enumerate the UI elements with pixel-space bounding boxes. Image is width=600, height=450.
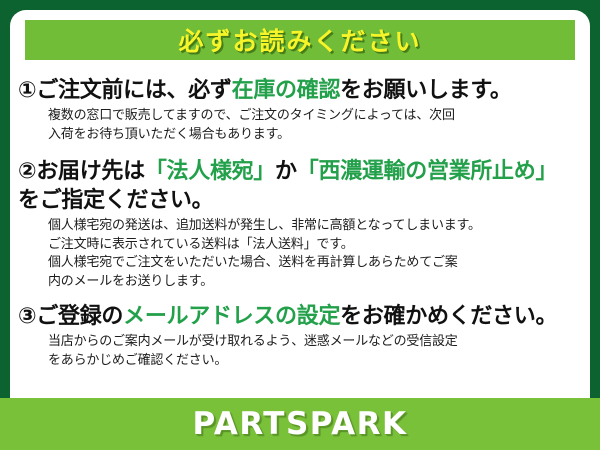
notice-item-2-heading: ②お届け先は「法人様宛」か「西濃運輸の営業所止め」 — [18, 157, 582, 186]
notice-banner: 必ずお読みください ①ご注文前には、必ず在庫の確認をお願いします。 複数の窓口で… — [0, 0, 600, 450]
footer-band: PARTSPARK — [0, 398, 600, 450]
notice-item-2-subline-4: 内のメールをお送りします。 — [48, 273, 582, 292]
notice-item-1-head-post: をお願いします。 — [340, 78, 511, 103]
notice-panel: 必ずお読みください ①ご注文前には、必ず在庫の確認をお願いします。 複数の窓口で… — [10, 10, 590, 450]
notice-item-2-head-accent: 「法人様宛」 — [145, 159, 275, 184]
notice-item-2-head-pre: お届け先は — [36, 159, 145, 184]
notice-item-3-head-post: をお確かめください。 — [340, 304, 557, 329]
notice-item-2-subline-2: ご注文時に表示されている送料は「法人送料」です。 — [48, 236, 582, 255]
notice-item-2: ②お届け先は「法人様宛」か「西濃運輸の営業所止め」 をご指定ください。 個人様宅… — [18, 157, 582, 292]
notice-item-3-marker: ③ — [18, 304, 36, 329]
notice-content: ①ご注文前には、必ず在庫の確認をお願いします。 複数の窓口で販売してますので、ご… — [10, 70, 590, 400]
notice-item-1-head-accent: 在庫の確認 — [232, 78, 341, 103]
notice-item-1: ①ご注文前には、必ず在庫の確認をお願いします。 複数の窓口で販売してますので、ご… — [18, 76, 582, 145]
notice-item-1-marker: ① — [18, 78, 36, 103]
notice-item-3-subtext: 当店からのご案内メールが受け取れるよう、迷惑メールなどの受信設定 をあらかじめご… — [48, 333, 582, 371]
notice-item-2-subline-1: 個人様宅宛の発送は、追加送料が発生し、非常に高額となってしまいます。 — [48, 217, 582, 236]
notice-item-3-subline-2: をあらかじめご確認ください。 — [48, 352, 582, 371]
notice-item-3-head-pre: ご登録の — [36, 304, 123, 329]
notice-item-1-subline-1: 複数の窓口で販売してますので、ご注文のタイミングによっては、次回 — [48, 107, 582, 126]
notice-item-2-head-accent2: 「西濃運輸の営業所止め」 — [297, 159, 557, 184]
notice-item-2-subline-3: 個人様宅宛でご注文をいただいた場合、送料を再計算しあらためてご案 — [48, 254, 582, 273]
notice-item-1-subtext: 複数の窓口で販売してますので、ご注文のタイミングによっては、次回 入荷をお待ち頂… — [48, 107, 582, 145]
notice-item-2-heading-line2: をご指定ください。 — [18, 186, 582, 215]
notice-item-1-heading: ①ご注文前には、必ず在庫の確認をお願いします。 — [18, 76, 582, 105]
header-title: 必ずお読みください — [178, 22, 421, 58]
notice-item-2-head-mid: か — [275, 159, 297, 184]
notice-item-3-subline-1: 当店からのご案内メールが受け取れるよう、迷惑メールなどの受信設定 — [48, 333, 582, 352]
header-band: 必ずお読みください — [25, 20, 575, 60]
notice-item-1-head-pre: ご注文前には、必ず — [36, 78, 231, 103]
partspark-logo: PARTSPARK — [192, 406, 407, 442]
notice-item-3: ③ご登録のメールアドレスの設定をお確かめください。 当店からのご案内メールが受け… — [18, 302, 582, 371]
notice-item-2-marker: ② — [18, 159, 36, 184]
notice-item-2-subtext: 個人様宅宛の発送は、追加送料が発生し、非常に高額となってしまいます。 ご注文時に… — [48, 217, 582, 292]
notice-item-3-head-accent: メールアドレスの設定 — [123, 304, 340, 329]
notice-item-1-subline-2: 入荷をお待ち頂いただく場合もあります。 — [48, 126, 582, 145]
notice-item-3-heading: ③ご登録のメールアドレスの設定をお確かめください。 — [18, 302, 582, 331]
